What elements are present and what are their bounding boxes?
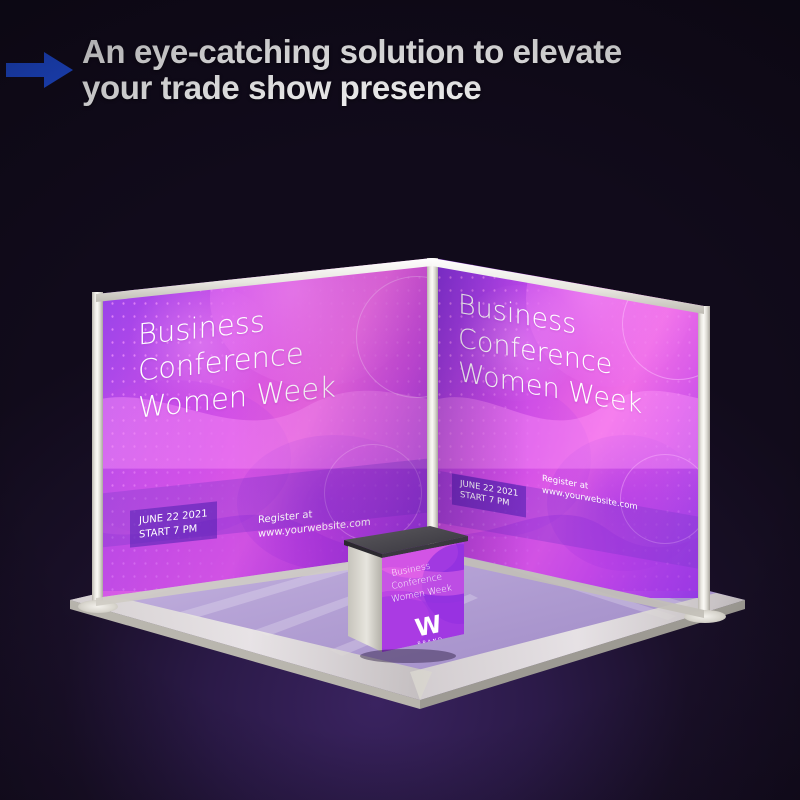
left-corner-post (92, 292, 103, 608)
podium-ground-shadow (360, 649, 456, 663)
headline-line-1: An eye-catching solution to elevate (82, 34, 622, 70)
arrow-right-icon (6, 50, 74, 90)
headline-line-2: your trade show presence (82, 70, 622, 106)
headline-text: An eye-catching solution to elevate your… (82, 34, 622, 105)
headline-block: An eye-catching solution to elevate your… (0, 34, 800, 126)
poster-canvas: Business Conference Women Week JUNE 22 2… (0, 0, 800, 800)
left-post-foot (78, 600, 118, 613)
right-post-foot (684, 610, 726, 623)
reception-podium[interactable]: Business Conference Women Week W BRAND (336, 512, 476, 672)
right-corner-post (698, 306, 710, 618)
podium-side-panel (348, 546, 382, 652)
